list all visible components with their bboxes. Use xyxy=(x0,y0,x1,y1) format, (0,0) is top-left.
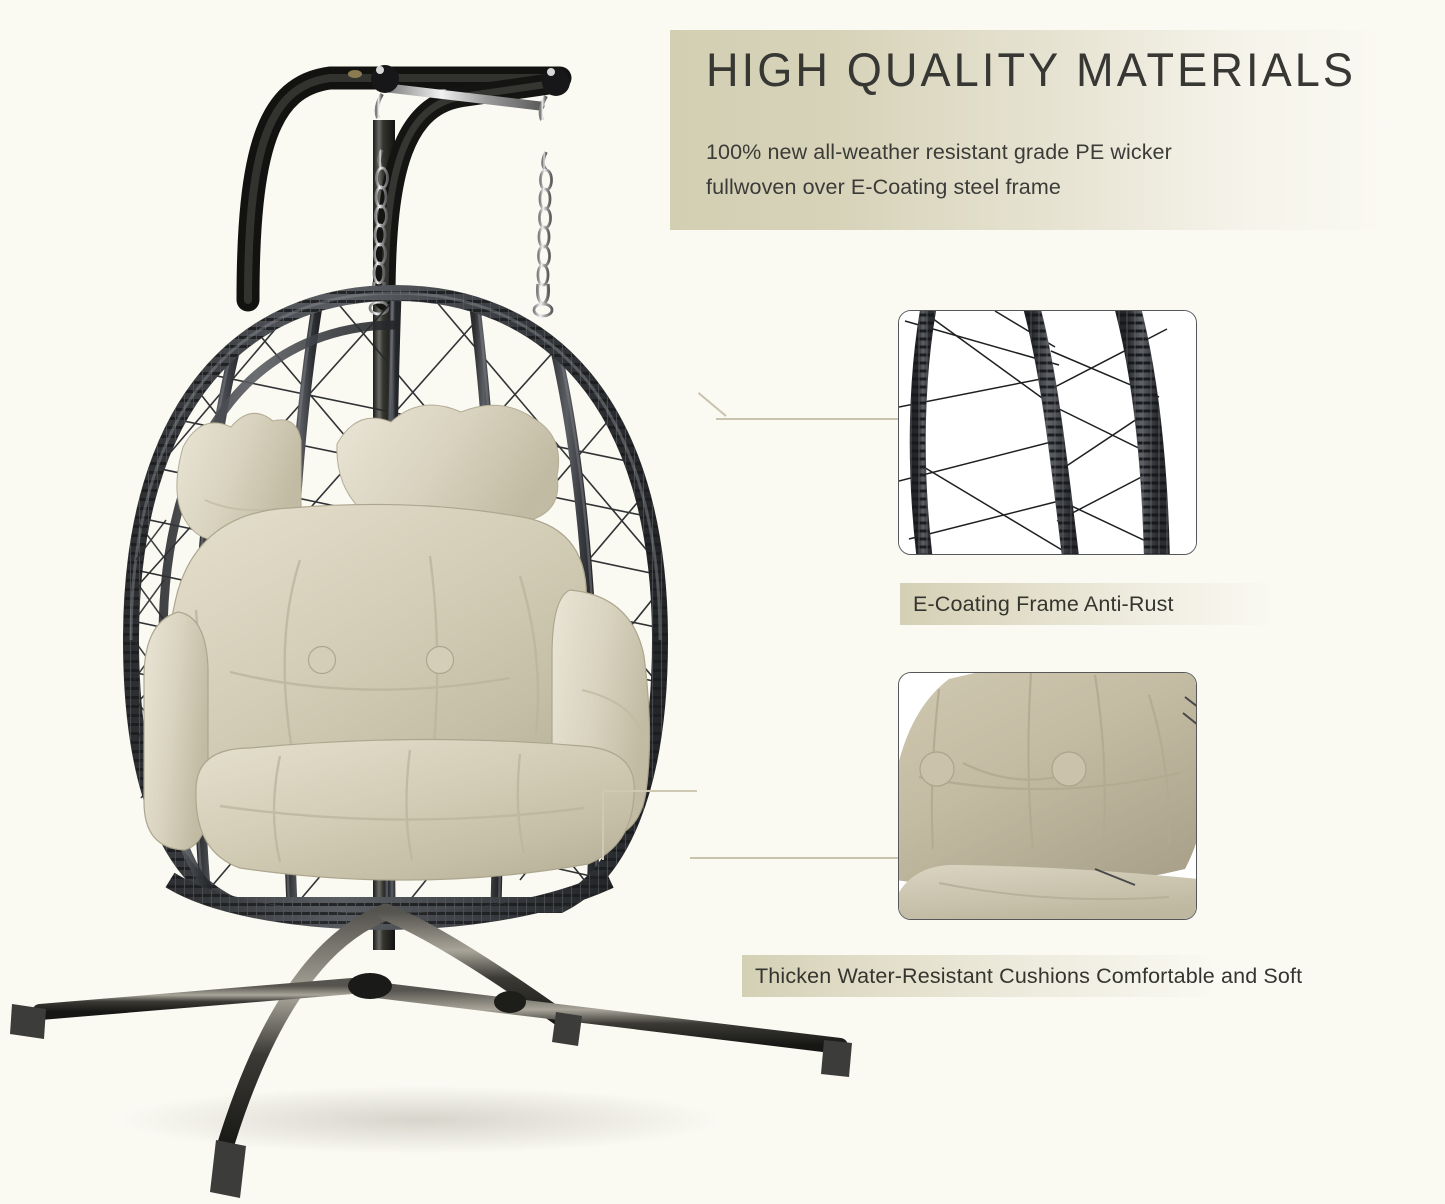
frame-closeup-image xyxy=(899,311,1197,555)
cross-base-stand xyxy=(10,912,852,1198)
cushion-closeup-panel[interactable] xyxy=(898,672,1197,920)
caption-frame: E-Coating Frame Anti-Rust xyxy=(900,583,1420,625)
cushion-selection-marker xyxy=(602,790,697,860)
product-illustration xyxy=(0,0,900,1204)
frame-closeup-panel[interactable] xyxy=(898,310,1197,555)
hanging-arm-bracket xyxy=(248,65,570,300)
chain-right xyxy=(534,170,552,316)
cushion-closeup-image xyxy=(899,673,1197,920)
seat-cushion xyxy=(196,739,634,880)
infographic-canvas: HIGH QUALITY MATERIALS 100% new all-weat… xyxy=(0,0,1445,1204)
leader-line-frame xyxy=(716,418,901,420)
caption-cushion: Thicken Water-Resistant Cushions Comfort… xyxy=(742,955,1422,997)
leader-line-cushion xyxy=(690,857,902,859)
